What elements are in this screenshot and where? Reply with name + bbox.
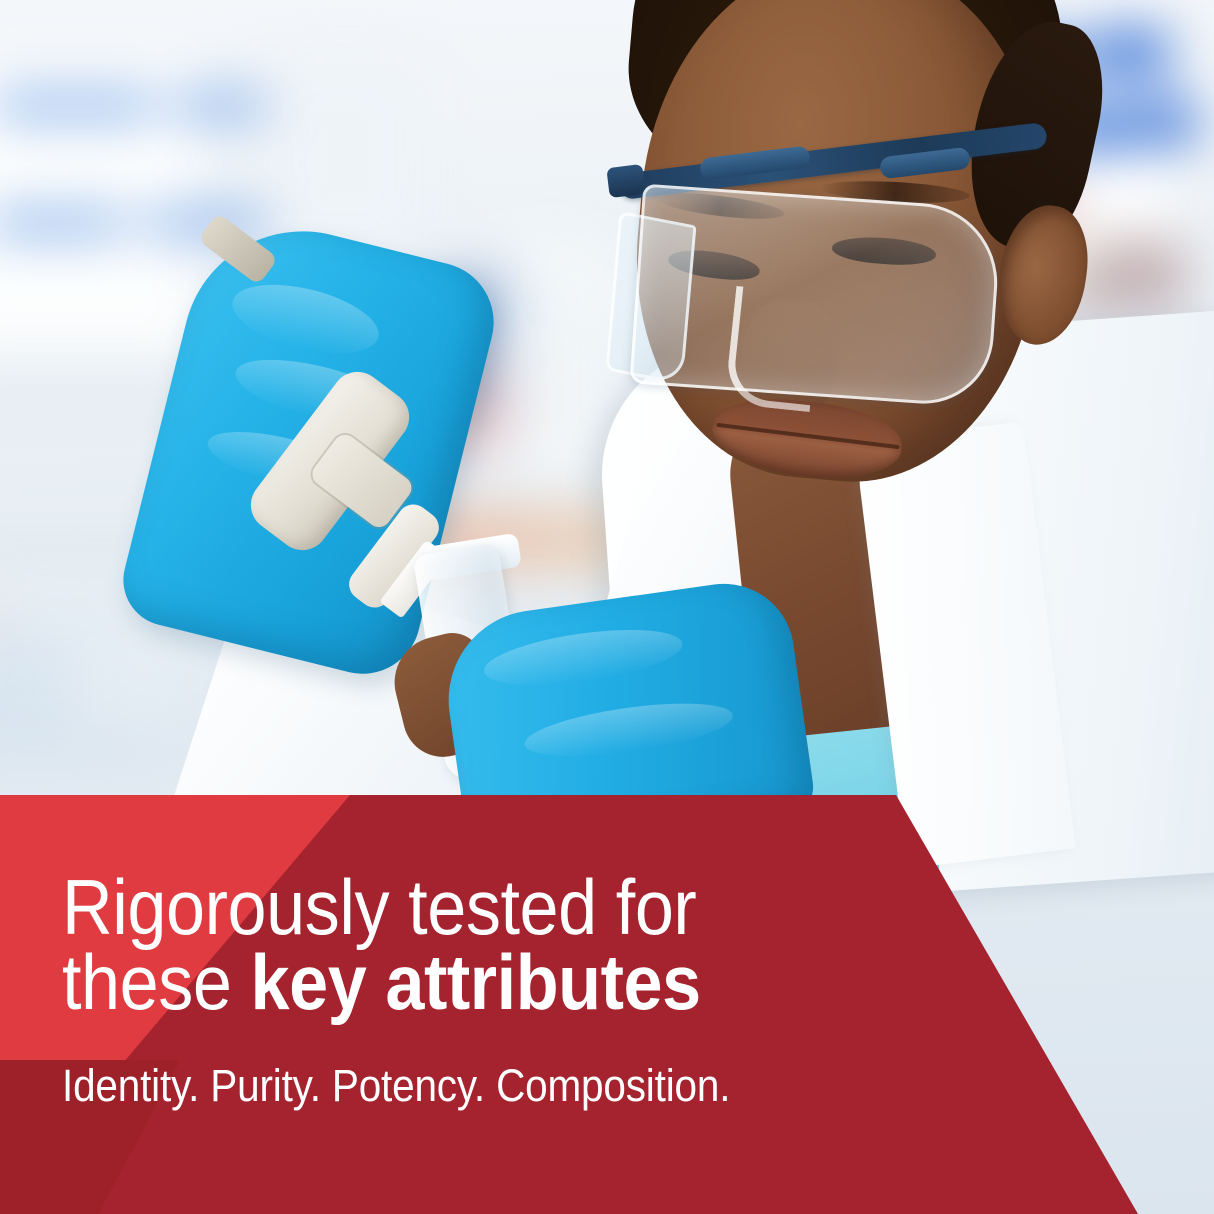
- banner-image: Rigorously tested for these key attribut…: [0, 0, 1214, 1214]
- headline-line-2-light: these: [62, 938, 251, 1026]
- safety-goggles-hinge: [606, 164, 645, 198]
- banner-subline: Identity. Purity. Potency. Composition.: [62, 1060, 836, 1112]
- headline-line-2: these key attributes: [62, 945, 836, 1020]
- headline-line-2-bold: key attributes: [251, 938, 701, 1026]
- glove-highlight: [481, 620, 686, 695]
- banner-headline: Rigorously tested for these key attribut…: [62, 870, 836, 1020]
- banner-text-block: Rigorously tested for these key attribut…: [62, 870, 922, 1112]
- headline-line-1: Rigorously tested for: [62, 870, 836, 945]
- glove-highlight: [522, 693, 736, 766]
- glove-highlight: [226, 272, 386, 367]
- safety-goggles-bridge: [724, 286, 822, 412]
